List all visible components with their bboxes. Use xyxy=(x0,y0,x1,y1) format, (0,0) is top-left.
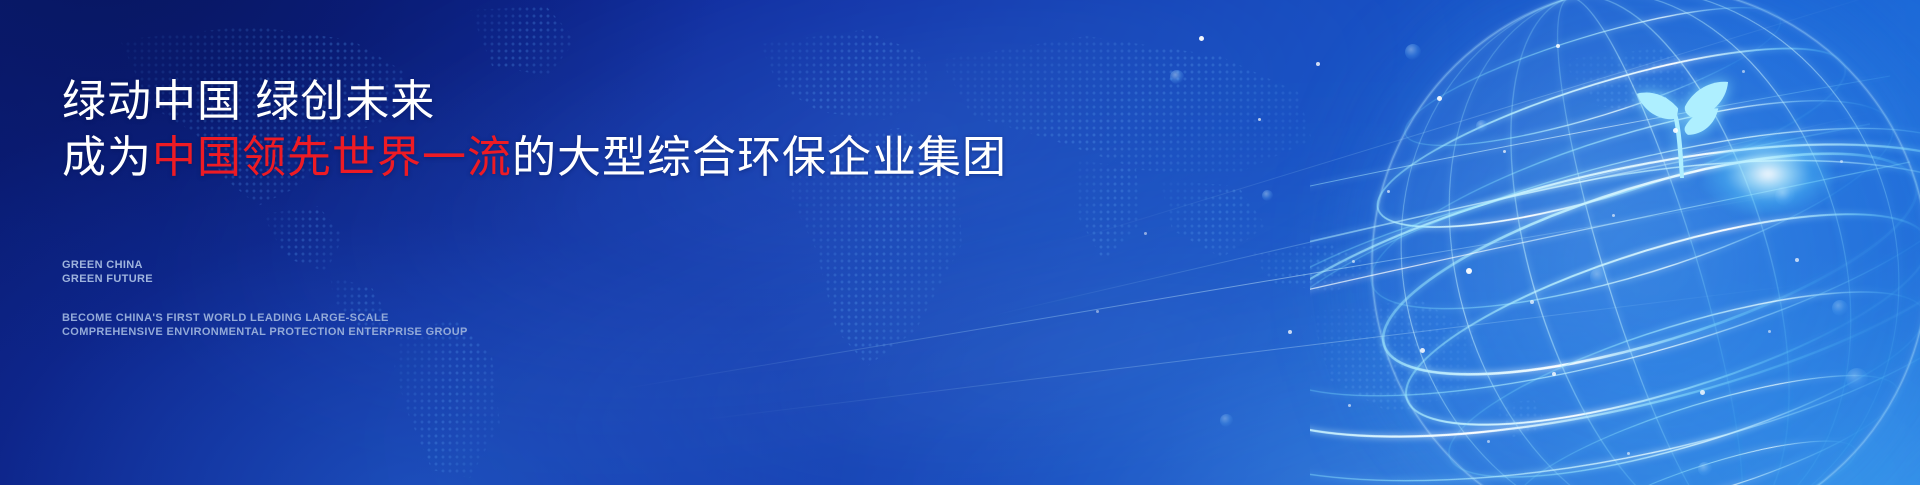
headline-line-2-suffix: 的大型综合环保企业集团 xyxy=(512,133,1007,182)
sprout-leaf-icon xyxy=(1634,76,1732,180)
globe-halo xyxy=(1330,0,1920,485)
light-burst xyxy=(1702,132,1834,216)
tagline-en: GREEN CHINA GREEN FUTURE xyxy=(62,258,153,286)
subtitle-en: BECOME CHINA'S FIRST WORLD LEADING LARGE… xyxy=(62,311,468,339)
globe-wireframe xyxy=(1310,0,1920,485)
tagline-en-line-1: GREEN CHINA xyxy=(62,258,153,272)
headline-line-2-highlight: 中国领先世界一流 xyxy=(152,133,512,182)
hero-banner: 绿动中国 绿创未来 成为中国领先世界一流的大型综合环保企业集团 GREEN CH… xyxy=(0,0,1920,485)
tagline-en-line-2: GREEN FUTURE xyxy=(62,272,153,286)
page-title: 绿动中国 绿创未来 成为中国领先世界一流的大型综合环保企业集团 xyxy=(62,74,1007,186)
headline-line-2-prefix: 成为 xyxy=(62,133,152,182)
subtitle-en-line-2: COMPREHENSIVE ENVIRONMENTAL PROTECTION E… xyxy=(62,325,468,339)
globe-core xyxy=(1370,0,1920,485)
globe-graphic xyxy=(1310,0,1920,485)
headline-line-2: 成为中国领先世界一流的大型综合环保企业集团 xyxy=(62,130,1007,186)
subtitle-en-line-1: BECOME CHINA'S FIRST WORLD LEADING LARGE… xyxy=(62,311,468,325)
light-streak-4 xyxy=(1059,0,1882,245)
copy-block: 绿动中国 绿创未来 成为中国领先世界一流的大型综合环保企业集团 GREEN CH… xyxy=(62,0,1062,485)
headline-line-1: 绿动中国 绿创未来 xyxy=(62,77,435,126)
light-streak-3 xyxy=(991,113,1868,316)
